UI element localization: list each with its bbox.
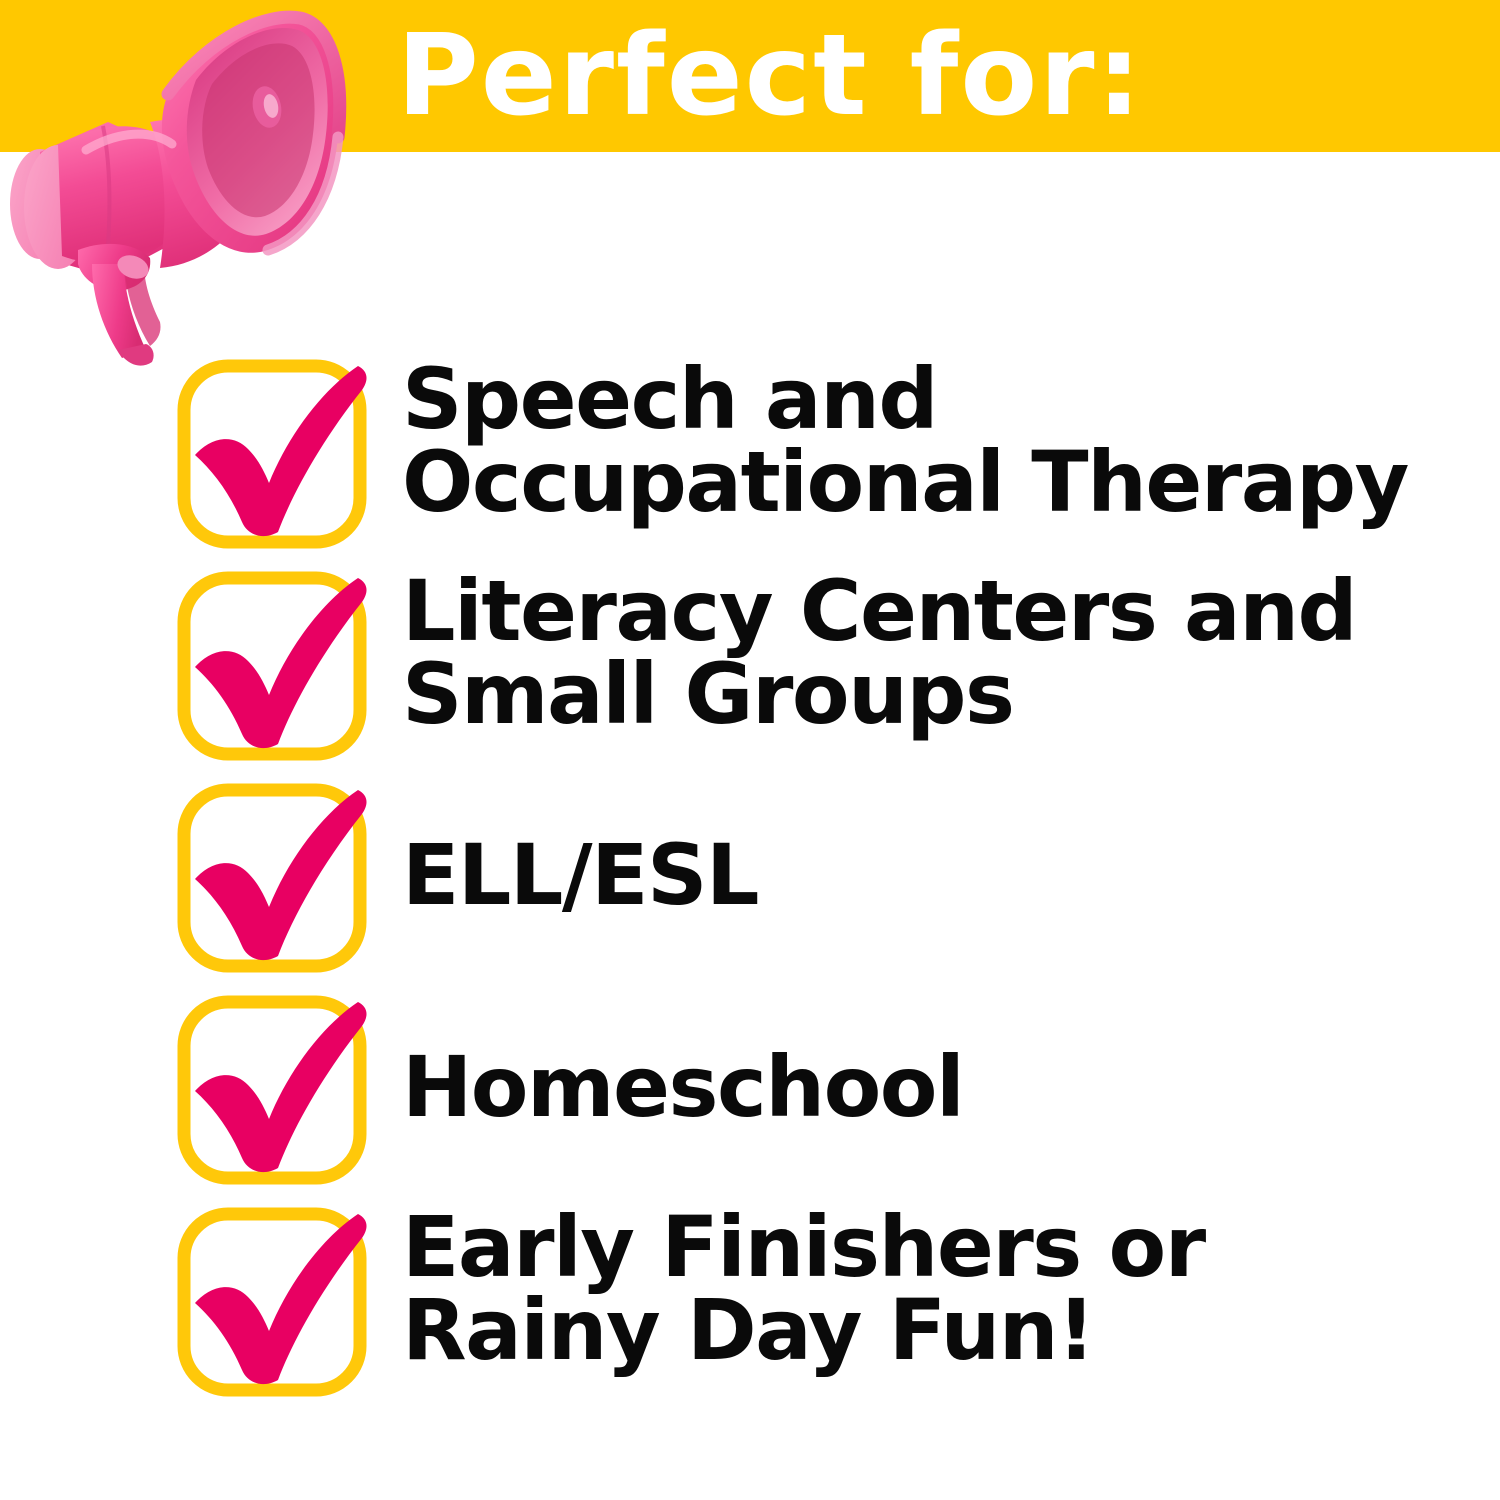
header-banner: Perfect for: (0, 0, 1500, 152)
list-item[interactable]: Speech and Occupational Therapy (0, 352, 1500, 564)
list-item-label: Speech and Occupational Therapy (372, 352, 1500, 524)
checkbox-checked-2[interactable] (172, 564, 372, 764)
perfect-for-poster: Perfect for: (0, 0, 1500, 1500)
checkbox-checked-1[interactable] (172, 352, 372, 552)
list-item[interactable]: Literacy Centers and Small Groups (0, 564, 1500, 776)
checklist: Speech and Occupational Therapy Literacy… (0, 352, 1500, 1412)
list-item-label: Early Finishers or Rainy Day Fun! (372, 1200, 1500, 1372)
page-title: Perfect for: (0, 0, 1500, 152)
list-item-label: Homeschool (372, 988, 1500, 1129)
list-item-label: Literacy Centers and Small Groups (372, 564, 1500, 736)
list-item-label: ELL/ESL (372, 776, 1500, 917)
checkbox-checked-5[interactable] (172, 1200, 372, 1400)
list-item[interactable]: ELL/ESL (0, 776, 1500, 988)
checkbox-checked-4[interactable] (172, 988, 372, 1188)
list-item[interactable]: Early Finishers or Rainy Day Fun! (0, 1200, 1500, 1412)
list-item[interactable]: Homeschool (0, 988, 1500, 1200)
checkbox-checked-3[interactable] (172, 776, 372, 976)
